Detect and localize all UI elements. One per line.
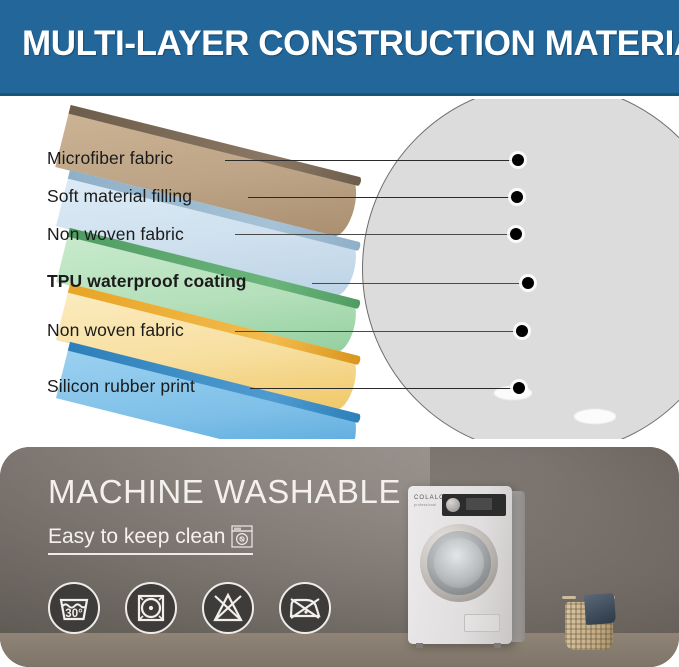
washer-display xyxy=(466,498,492,510)
leader-bullet-non-woven-bottom xyxy=(516,325,528,337)
washing-machine-photo: COLALO professional xyxy=(408,486,526,650)
leader-bullet-tpu xyxy=(522,277,534,289)
product-infographic: MULTI-LAYER CONSTRUCTION MATERIAL xyxy=(0,0,679,667)
machine-washable-title: MACHINE WASHABLE xyxy=(48,473,401,511)
washer-drum xyxy=(434,538,484,588)
washer-detergent-drawer[interactable] xyxy=(464,614,500,632)
easy-to-keep-clean-line: Easy to keep clean xyxy=(48,525,253,555)
washer-foot xyxy=(416,643,423,648)
washer-door[interactable] xyxy=(420,524,498,602)
washer-dial-knob[interactable] xyxy=(446,498,460,512)
basket-cloth xyxy=(584,593,616,625)
tumble-dry-icon xyxy=(125,582,177,634)
basket-handle xyxy=(562,596,576,599)
layer-label-non-woven-fabric-bottom: Non woven fabric xyxy=(47,320,184,341)
care-instruction-icons: 30° xyxy=(48,582,331,634)
layer-label-silicon-rubber-print: Silicon rubber print xyxy=(47,376,195,397)
leader-line-soft-filling xyxy=(248,197,516,198)
layer-diagram-section: Microfiber fabric Soft material filling … xyxy=(0,99,679,439)
washer-door-glass xyxy=(427,531,491,595)
washing-machine-icon xyxy=(231,525,253,549)
layer-label-soft-material-filling: Soft material filling xyxy=(47,186,192,207)
do-not-bleach-icon xyxy=(202,582,254,634)
machine-wash-30-icon: 30° xyxy=(48,582,100,634)
do-not-iron-icon xyxy=(279,582,331,634)
leader-bullet-non-woven-top xyxy=(510,228,522,240)
leader-line-non-woven-top xyxy=(235,234,515,235)
layer-label-non-woven-fabric-top: Non woven fabric xyxy=(47,224,184,245)
page-title: MULTI-LAYER CONSTRUCTION MATERIAL xyxy=(22,24,662,64)
leader-line-non-woven-bottom xyxy=(235,331,520,332)
leader-line-tpu xyxy=(312,283,527,284)
header-banner: MULTI-LAYER CONSTRUCTION MATERIAL xyxy=(0,0,679,96)
layer-label-microfiber-fabric: Microfiber fabric xyxy=(47,148,173,169)
washer-side-panel xyxy=(512,491,525,642)
leader-bullet-microfiber xyxy=(512,154,524,166)
washer-foot xyxy=(494,643,501,648)
leader-line-microfiber xyxy=(225,160,518,161)
washer-body: COLALO professional xyxy=(408,486,512,644)
leader-line-silicon-print xyxy=(250,388,518,389)
washer-brand-label: COLALO xyxy=(414,495,445,501)
washer-brand-sublabel: professional xyxy=(414,503,436,507)
silicon-print-dot xyxy=(574,409,616,424)
leader-bullet-soft-filling xyxy=(511,191,523,203)
laundry-basket xyxy=(565,594,613,650)
easy-to-keep-clean-text: Easy to keep clean xyxy=(48,525,225,549)
svg-text:30°: 30° xyxy=(65,608,83,620)
washer-control-panel[interactable] xyxy=(442,494,506,516)
leader-bullet-silicon-print xyxy=(513,382,525,394)
layer-label-tpu-waterproof-coating: TPU waterproof coating xyxy=(47,271,247,292)
